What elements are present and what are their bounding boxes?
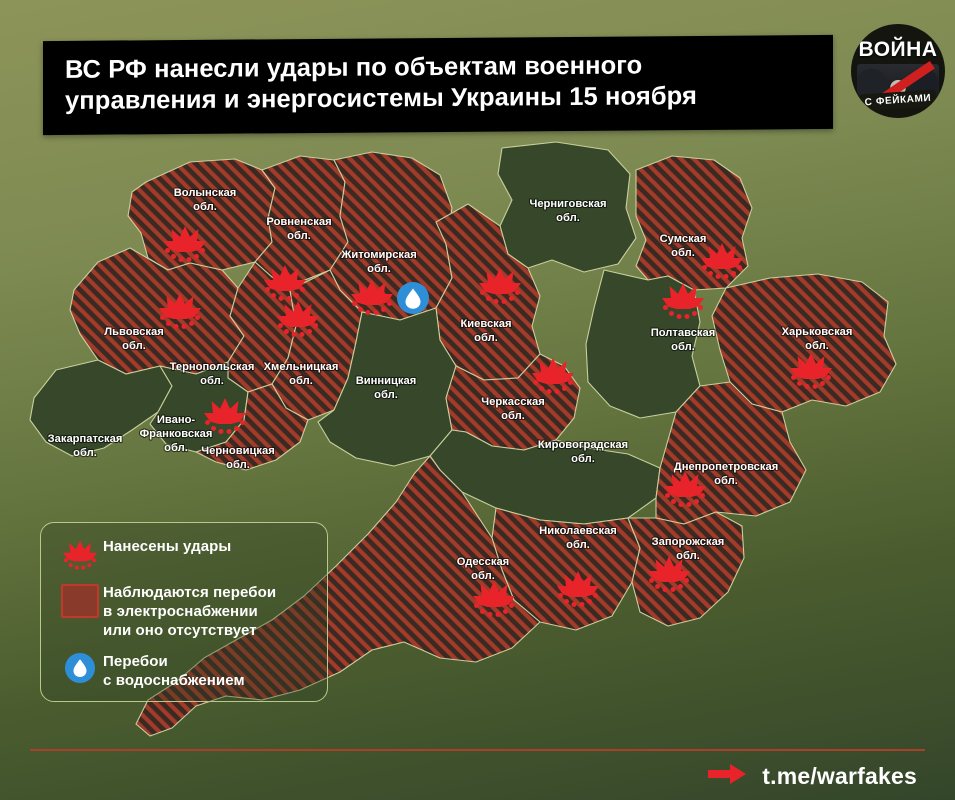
legend-label-power: Наблюдаются перебои в электроснабжении и…	[103, 583, 276, 641]
label-cherkasy: Черкасская	[481, 396, 545, 408]
label-rivne: Ровненская	[266, 216, 331, 228]
label-vinnytsia: Винницкая	[356, 375, 417, 387]
water-markers	[397, 282, 429, 314]
title-line-2: управления и энергосистемы Украины 15 но…	[65, 80, 815, 117]
label-kyiv-suffix: обл.	[474, 332, 498, 344]
label-kharkiv: Харьковская	[782, 326, 853, 338]
label-zakarpattia: Закарпатская	[48, 433, 123, 445]
label-ivano-frankivsk: Ивано-	[157, 414, 196, 426]
label-chernivtsi-suffix: обл.	[226, 459, 250, 471]
hatched-swatch-icon	[57, 583, 103, 618]
warfakes-logo[interactable]: ВОЙНА С ФЕЙКАМИ	[851, 24, 945, 118]
explosion-icon	[57, 537, 103, 572]
label-odesa-suffix: обл.	[471, 570, 495, 582]
water-drop-icon-zhytomyr[interactable]	[397, 282, 429, 314]
infographic-page: ВС РФ нанесли удары по объектам военного…	[0, 0, 955, 800]
label-chernivtsi: Черновицкая	[201, 445, 275, 457]
label-dnipropetrovsk: Днепропетровская	[674, 461, 779, 473]
legend-label-water-line1: Перебои	[103, 653, 245, 672]
label-kirovohrad-suffix: обл.	[571, 453, 595, 465]
label-sumy-suffix: обл.	[671, 247, 695, 259]
label-zaporizhzhia-suffix: обл.	[676, 550, 700, 562]
logo-top-text: ВОЙНА	[851, 38, 945, 62]
label-ivano-frankivsk-suffix: обл.	[164, 442, 188, 454]
label-kirovohrad: Кировоградская	[538, 439, 628, 451]
label-lviv: Львовская	[104, 326, 163, 338]
legend-panel: Нанесены удары Наблюдаются перебои в эле…	[40, 522, 328, 702]
label-khmelnytskyi-suffix: обл.	[289, 375, 313, 387]
label-zaporizhzhia: Запорожская	[652, 536, 725, 548]
label-volyn-suffix: обл.	[193, 201, 217, 213]
label-dnipropetrovsk-suffix: обл.	[714, 475, 738, 487]
legend-label-power-line2: в электроснабжении	[103, 603, 276, 622]
label-poltava-suffix: обл.	[671, 341, 695, 353]
legend-item-power: Наблюдаются перебои в электроснабжении и…	[57, 583, 311, 641]
label-volyn: Волынская	[174, 187, 237, 199]
label-sumy: Сумская	[660, 233, 707, 245]
region-volyn[interactable]	[128, 159, 275, 270]
label-lviv-suffix: обл.	[122, 340, 146, 352]
label-ternopil: Тернопольская	[170, 361, 255, 373]
label-chernihiv-suffix: обл.	[556, 212, 580, 224]
legend-label-power-line3: или оно отсутствует	[103, 622, 276, 641]
right-arrow-icon	[708, 763, 748, 790]
label-mykolaiv-suffix: обл.	[566, 539, 590, 551]
region-zaporizhzhia[interactable]	[628, 512, 744, 626]
label-kyiv: Киевская	[460, 318, 511, 330]
footer: t.me/warfakes	[0, 752, 955, 800]
label-zhytomyr: Житомирская	[340, 249, 417, 261]
label-chernihiv: Черниговская	[529, 198, 606, 210]
label-mykolaiv: Николаевская	[539, 525, 617, 537]
label-kharkiv-suffix: обл.	[805, 340, 829, 352]
label-ternopil-suffix: обл.	[200, 375, 224, 387]
label-khmelnytskyi: Хмельницкая	[264, 361, 339, 373]
telegram-url[interactable]: t.me/warfakes	[762, 763, 917, 790]
label-zhytomyr-suffix: обл.	[367, 263, 391, 275]
page-title: ВС РФ нанесли удары по объектам военного…	[43, 35, 833, 135]
label-vinnytsia-suffix: обл.	[374, 389, 398, 401]
legend-label-water: Перебои с водоснабжением	[103, 652, 245, 691]
label-cherkasy-suffix: обл.	[501, 410, 525, 422]
label-odesa: Одесская	[457, 556, 509, 568]
label-poltava: Полтавская	[651, 327, 716, 339]
label-rivne-suffix: обл.	[287, 230, 311, 242]
legend-label-water-line2: с водоснабжением	[103, 672, 245, 691]
water-drop-icon	[57, 652, 103, 683]
label-ivano-frankivsk-2: Франковская	[140, 428, 213, 440]
legend-label-strikes: Нанесены удары	[103, 537, 231, 557]
legend-item-water: Перебои с водоснабжением	[57, 652, 311, 691]
legend-item-strikes: Нанесены удары	[57, 537, 311, 572]
legend-label-power-line1: Наблюдаются перебои	[103, 584, 276, 603]
region-sumy[interactable]	[636, 156, 752, 290]
label-zakarpattia-suffix: обл.	[73, 447, 97, 459]
